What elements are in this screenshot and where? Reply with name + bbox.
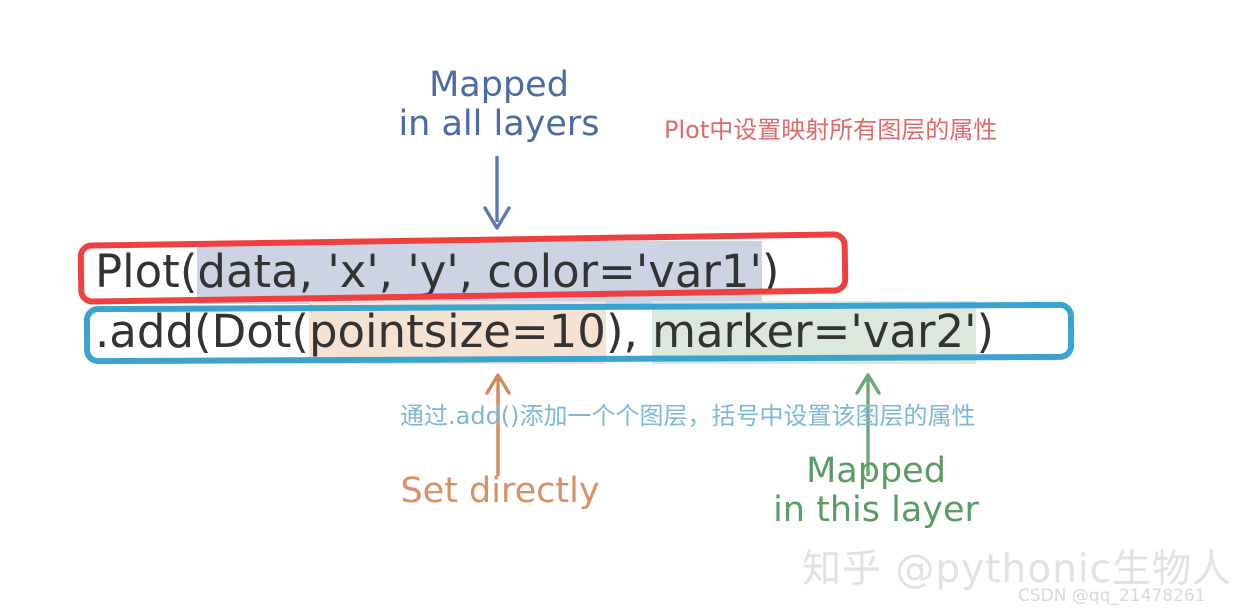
- diagram-canvas: Mapped in all layers Plot中设置映射所有图层的属性 Pl…: [0, 0, 1236, 614]
- annotation-mapped-in-all-layers: Mapped in all layers: [366, 66, 632, 144]
- annotation-mapped-in-this-layer: Mapped in this layer: [742, 452, 1010, 530]
- highlight-box-plot-red: [78, 231, 849, 304]
- watermark-csdn: CSDN @qq_21478261: [1018, 586, 1205, 606]
- annotation-set-directly: Set directly: [372, 472, 628, 511]
- annotation-cn-add-layers: 通过.add()添加一个个图层，括号中设置该图层的属性: [400, 403, 976, 430]
- annotation-cn-plot-mapping: Plot中设置映射所有图层的属性: [664, 117, 997, 144]
- highlight-box-add-blue: [84, 302, 1074, 364]
- arrow-down-icon: [476, 156, 518, 236]
